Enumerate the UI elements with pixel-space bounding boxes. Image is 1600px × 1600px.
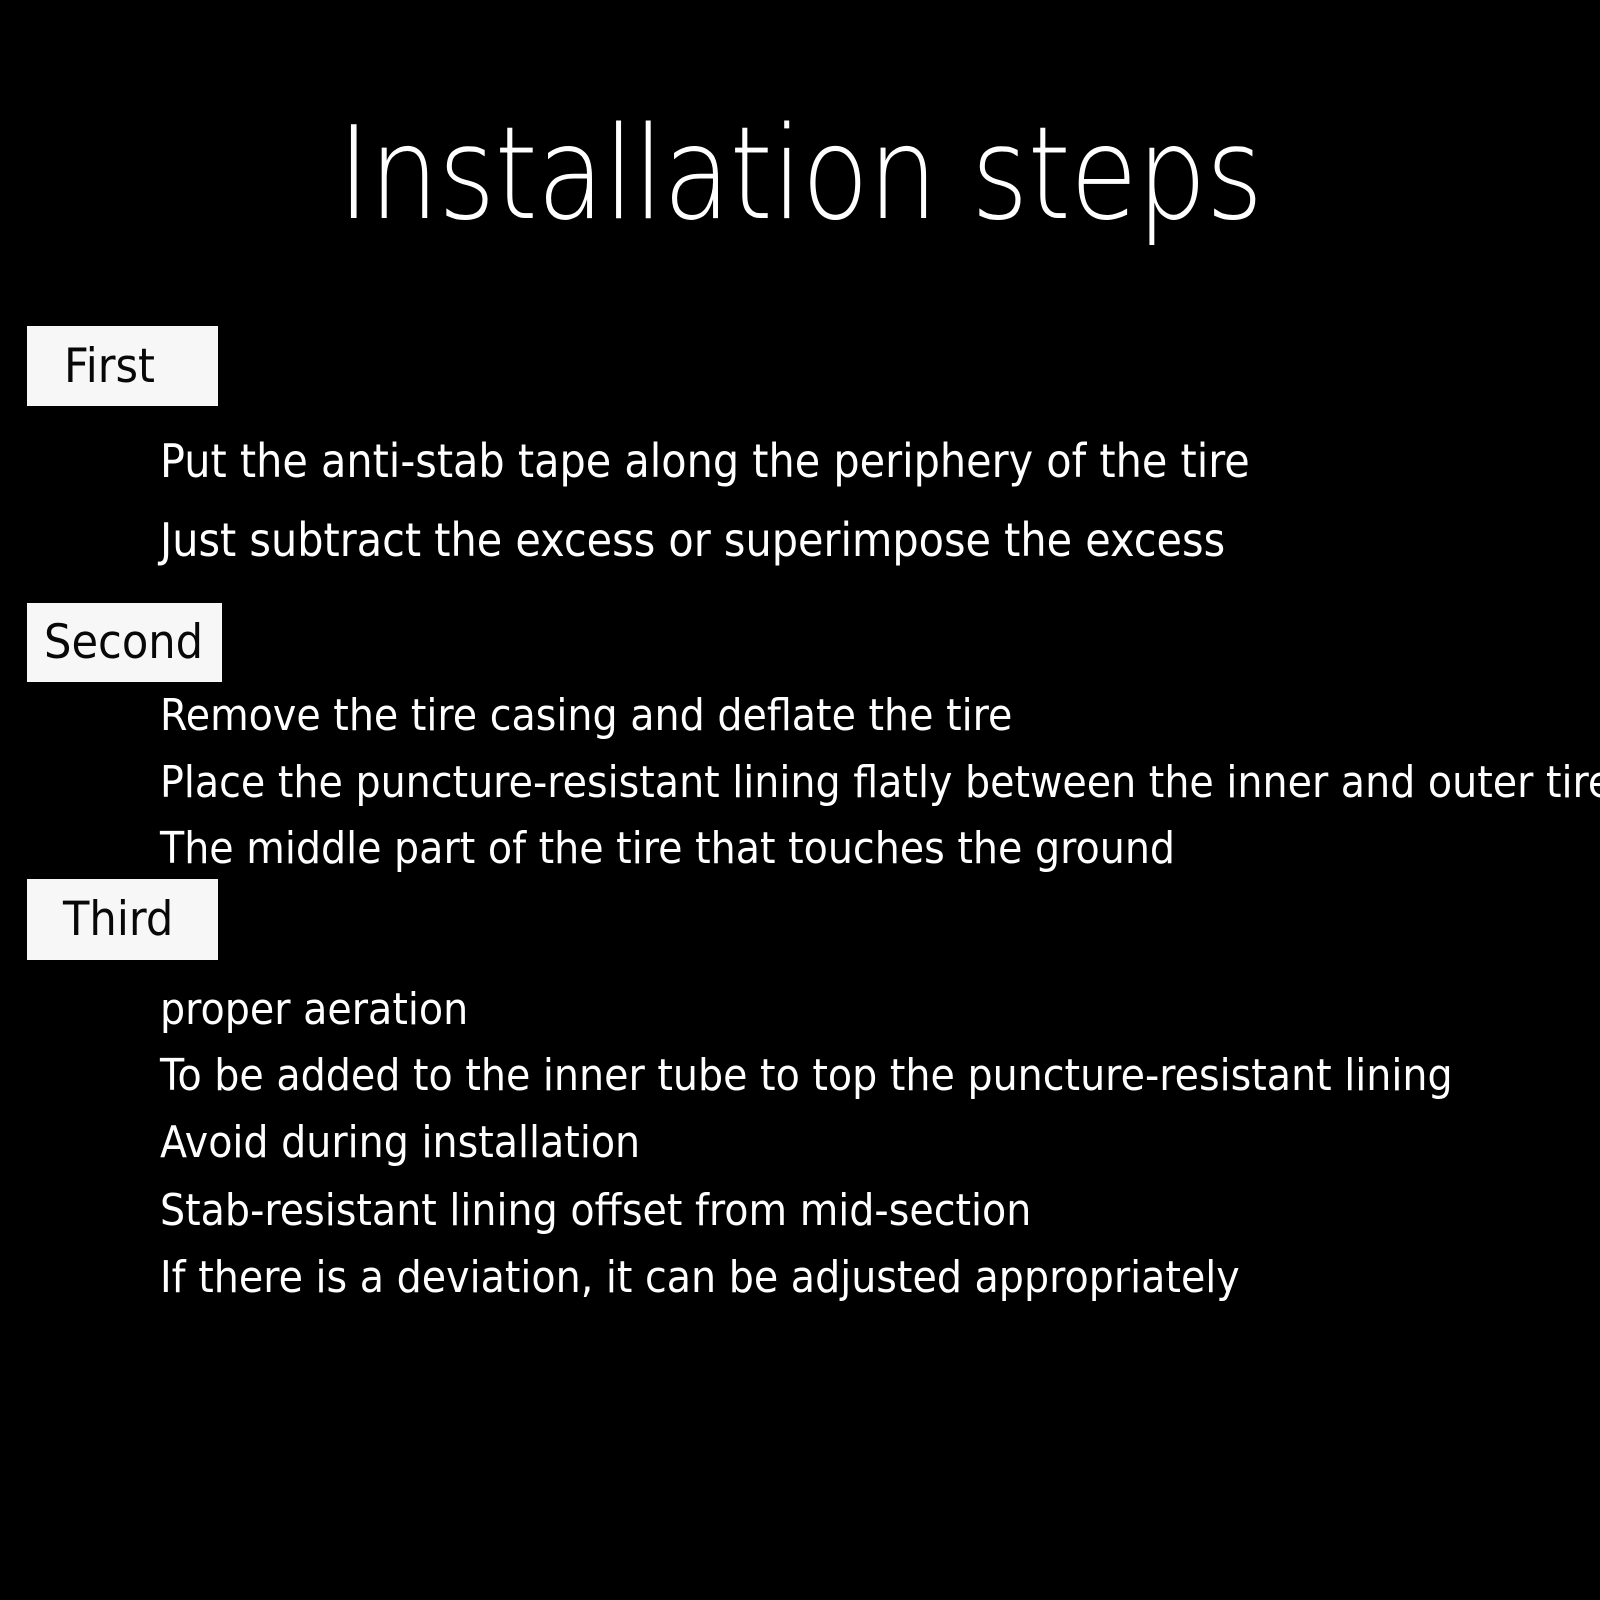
step-3-line-5-text: If there is a deviation, it can be adjus… — [160, 1256, 1240, 1300]
step-1-line-1-text: Put the anti-stab tape along the periphe… — [160, 438, 1250, 484]
step-1-line-2: Just subtract the excess or superimpose … — [160, 517, 1344, 563]
step-label-first: First — [27, 326, 218, 406]
step-3-line-2-text: To be added to the inner tube to top the… — [160, 1054, 1453, 1098]
step-label-third-text: Third — [63, 892, 173, 947]
step-3-line-2: To be added to the inner tube to top the… — [160, 1054, 1596, 1098]
step-2-line-3: The middle part of the tire that touches… — [160, 827, 1288, 871]
step-label-first-text: First — [64, 339, 155, 394]
step-2-line-1-text: Remove the tire casing and deflate the t… — [160, 694, 1012, 738]
step-label-third: Third — [27, 879, 218, 960]
page-title: Installation steps — [112, 108, 1488, 242]
step-2-line-2: Place the puncture-resistant lining flat… — [160, 761, 1600, 805]
step-3-line-3-text: Avoid during installation — [160, 1121, 640, 1165]
step-2-line-3-text: The middle part of the tire that touches… — [160, 827, 1175, 871]
step-1-line-1: Put the anti-stab tape along the periphe… — [160, 438, 1371, 484]
step-3-line-1-text: proper aeration — [160, 988, 468, 1032]
step-3-line-3: Avoid during installation — [160, 1121, 694, 1165]
step-label-second-text: Second — [44, 615, 203, 670]
step-2-line-1: Remove the tire casing and deflate the t… — [160, 694, 1107, 738]
step-2-line-2-text: Place the puncture-resistant lining flat… — [160, 761, 1600, 805]
step-3-line-4-text: Stab-resistant lining offset from mid-se… — [160, 1189, 1031, 1233]
step-3-line-4: Stab-resistant lining offset from mid-se… — [160, 1189, 1128, 1233]
step-1-line-2-text: Just subtract the excess or superimpose … — [160, 517, 1225, 563]
step-3-line-1: proper aeration — [160, 988, 502, 1032]
installation-steps-slide: Installation steps First Put the anti-st… — [0, 0, 1600, 1600]
step-label-second: Second — [27, 603, 222, 682]
step-3-line-5: If there is a deviation, it can be adjus… — [160, 1256, 1360, 1300]
